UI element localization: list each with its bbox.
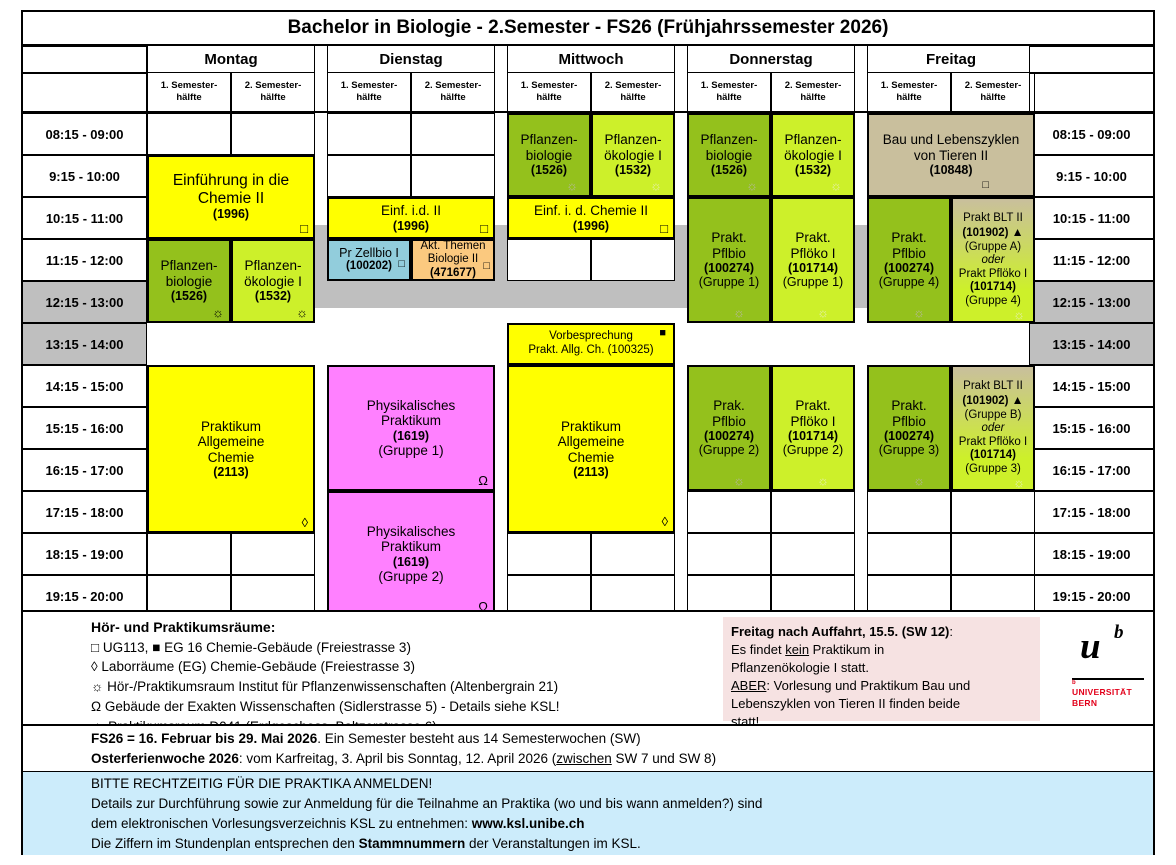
event-code: (1532) — [233, 289, 313, 303]
event-code: (100274) — [689, 261, 769, 275]
room-sun-icon: ☼ — [746, 179, 758, 192]
legend-heading: Hör- und Praktikumsräume: — [91, 617, 731, 638]
logo-letter-b: b — [1114, 622, 1124, 644]
event-line-3: Chemie — [149, 450, 313, 465]
event-code: (1996) — [149, 207, 313, 221]
event-line-1: Akt. Themen — [413, 240, 493, 254]
room-square-icon: □ — [982, 180, 989, 191]
logo-line2: BERN — [1072, 698, 1097, 708]
event-code: (1526) — [509, 163, 589, 177]
info-l4bold: Stammnummern — [359, 836, 466, 851]
slot-montag-1-0 — [147, 113, 231, 155]
room-sun-icon: ☼ — [913, 306, 925, 319]
event-oder: oder — [953, 254, 1033, 268]
event-line-1: Einf. i. d. Chemie II — [509, 203, 673, 218]
semester-info-box: FS26 = 16. Februar bis 29. Mai 2026. Ein… — [23, 724, 1153, 771]
event-alt-name: Prakt Pflöko I — [953, 436, 1033, 450]
time-label-left-9: 17:15 - 18:00 — [23, 491, 147, 533]
room-square-icon: □ — [300, 222, 308, 235]
header-spacer-1 — [315, 46, 327, 73]
slot-donnerstag-1-10 — [687, 533, 771, 575]
slot-dienstag-2-1 — [411, 155, 495, 197]
event-line-2: von Tieren II — [869, 148, 1033, 163]
event-einf-id-2-dienstag[interactable]: Einf. i.d. II (1996) □ — [327, 197, 495, 239]
info-line-1: BITTE RECHTZEITIG FÜR DIE PRAKTIKA ANMEL… — [91, 776, 432, 791]
semester-dates-bold: FS26 = 16. Februar bis 29. Mai 2026 — [91, 731, 317, 746]
legend-item-ug113: □ UG113, ■ EG 16 Chemie-Gebäude (Freiest… — [91, 638, 731, 658]
room-sun-icon: ☼ — [733, 306, 745, 319]
easter-b: SW 7 und SW 8) — [612, 751, 716, 766]
subheader-corner-left — [23, 73, 147, 113]
time-label-right-3: 11:15 - 12:00 — [1029, 239, 1153, 281]
logo-tiny-b: b — [1072, 680, 1076, 686]
room-sun-icon: ☼ — [1013, 476, 1025, 489]
half-header-donnerstag-2: 2. Semester- hälfte — [771, 73, 855, 113]
time-label-right-10: 18:15 - 19:00 — [1029, 533, 1153, 575]
event-pflanzenoekologie-mittwoch[interactable]: Pflanzen- ökologie I (1532) ☼ — [591, 113, 675, 197]
half-label-line2: hälfte — [980, 92, 1005, 104]
event-line-1: Praktikum — [509, 419, 673, 434]
timetable-page: Bachelor in Biologie - 2.Semester - FS26… — [0, 0, 1176, 865]
event-line-1: Pflanzen- — [593, 132, 673, 147]
event-line-1: Einf. i.d. II — [329, 203, 493, 218]
event-code: (1619) — [329, 429, 493, 443]
event-line-2: Pflöko I — [773, 246, 853, 261]
note-line-2: Es findet kein Praktikum in — [731, 641, 1032, 659]
half-label-line2: hälfte — [536, 92, 561, 104]
event-alt-code: (101714) — [953, 281, 1033, 295]
note-l1b: Praktikum in — [809, 642, 884, 657]
half-label-line1: 2. Semester- — [605, 80, 662, 92]
subheader-spacer-4 — [855, 73, 867, 113]
event-prakt-pfloeko-gruppe-2[interactable]: Prakt. Pflöko I (101714) (Gruppe 2) ☼ — [771, 365, 855, 491]
slot-dienstag-1-1 — [327, 155, 411, 197]
note-line-5: Lebenszyklen von Tieren II finden beide — [731, 695, 1032, 713]
event-code: (101714) — [773, 429, 853, 443]
event-pflanzenbiologie-montag[interactable]: Pflanzen- biologie (1526) ☼ — [147, 239, 231, 323]
room-sun-icon: ☼ — [566, 179, 578, 192]
event-aktuelle-themen-biologie-2[interactable]: Akt. Themen Biologie II (471677) □ — [411, 239, 495, 281]
event-group: (Gruppe 4) — [869, 275, 949, 289]
event-line-1: Prakt BLT II — [953, 212, 1033, 226]
half-label-line2: hälfte — [620, 92, 645, 104]
subheader-spacer-3 — [675, 73, 687, 113]
note-line-4: ABER: Vorlesung und Praktikum Bau und — [731, 677, 1032, 695]
event-code: (1526) — [149, 289, 229, 303]
half-header-freitag-2: 2. Semester- hälfte — [951, 73, 1035, 113]
slot-montag-2-0 — [231, 113, 315, 155]
event-line-2: Allgemeine — [149, 434, 313, 449]
easter-a: : vom Karfreitag, 3. April bis Sonntag, … — [239, 751, 556, 766]
note-line-1: Freitag nach Auffahrt, 15.5. (SW 12): — [731, 623, 1032, 641]
half-header-donnerstag-1: 1. Semester- hälfte — [687, 73, 771, 113]
event-code: (471677) — [413, 267, 493, 281]
event-line-1: Pflanzen- — [233, 258, 313, 273]
event-line-1: Prak. — [689, 398, 769, 413]
note-line-3: Pflanzenökologie I statt. — [731, 659, 1032, 677]
header-spacer-3 — [675, 46, 687, 73]
header-spacer-2 — [495, 46, 507, 73]
event-code: (100202) — [329, 260, 409, 274]
time-label-left-2: 10:15 - 11:00 — [23, 197, 147, 239]
event-pflanzenbiologie-mittwoch[interactable]: Pflanzen- biologie (1526) ☼ — [507, 113, 591, 197]
event-line-2: Biologie II — [413, 253, 493, 267]
event-line-1: Bau und Lebenszyklen — [869, 132, 1033, 147]
event-code: (2113) — [509, 465, 673, 479]
event-line-3: Chemie — [509, 450, 673, 465]
room-square-icon: □ — [483, 261, 490, 272]
half-header-montag-1: 1. Semester- hälfte — [147, 73, 231, 113]
subheader-corner-right — [1029, 73, 1153, 113]
event-code: (10848) — [869, 163, 1033, 177]
info-l4b: der Veranstaltungen im KSL. — [465, 836, 641, 851]
legend-item-pflanzenwissenschaften: ☼ Hör-/Praktikumsraum Institut für Pflan… — [91, 677, 731, 697]
event-line-2: Pflöko I — [773, 414, 853, 429]
event-line-1: Physikalisches — [329, 524, 493, 539]
event-prakt-pflbio-gruppe-4[interactable]: Prakt. Pflbio (100274) (Gruppe 4) ☼ — [867, 197, 951, 323]
event-line-2: ökologie I — [593, 148, 673, 163]
event-group: (Gruppe 2) — [329, 569, 493, 584]
event-pr-zellbio-1[interactable]: Pr Zellbio I (100202) □ — [327, 239, 411, 281]
logo-wordmark: UNIVERSITÄTBERN — [1072, 687, 1132, 710]
day-header-montag: Montag — [147, 46, 315, 73]
event-line-2: biologie — [509, 148, 589, 163]
event-code: (1526) — [689, 163, 769, 177]
event-line-1: Prakt. — [869, 230, 949, 245]
event-group: (Gruppe 2) — [689, 443, 769, 457]
half-label-line2: hälfte — [176, 92, 201, 104]
time-label-right-8: 16:15 - 17:00 — [1029, 449, 1153, 491]
time-label-left-0: 08:15 - 09:00 — [23, 113, 147, 155]
room-sun-icon: ☼ — [733, 474, 745, 487]
event-line-2: Praktikum — [329, 413, 493, 428]
page-title: Bachelor in Biologie - 2.Semester - FS26… — [23, 12, 1153, 46]
half-label-line1: 2. Semester- — [785, 80, 842, 92]
event-line-1: Pflanzen- — [149, 258, 229, 273]
room-sun-icon: ☼ — [817, 306, 829, 319]
event-line-1: Prakt. — [869, 398, 949, 413]
event-line-1: Prakt. — [689, 230, 769, 245]
room-sun-icon: ☼ — [650, 179, 662, 192]
time-label-left-6: 14:15 - 15:00 — [23, 365, 147, 407]
event-group: (Gruppe A) — [953, 241, 1033, 255]
room-sun-icon: ☼ — [1013, 308, 1025, 321]
event-pflanzenoekologie-montag[interactable]: Pflanzen- ökologie I (1532) ☼ — [231, 239, 315, 323]
event-prakt-pflbio-gruppe-3[interactable]: Prakt. Pflbio (100274) (Gruppe 3) ☼ — [867, 365, 951, 491]
event-prakt-pflbio-gruppe-1[interactable]: Prakt. Pflbio (100274) (Gruppe 1) ☼ — [687, 197, 771, 323]
slot-freitag-1-10 — [867, 533, 951, 575]
semester-dates-rest: . Ein Semester besteht aus 14 Semesterwo… — [317, 731, 640, 746]
event-line-1: Pr Zellbio I — [329, 246, 409, 260]
slot-dienstag-2-0 — [411, 113, 495, 155]
room-sun-icon: ☼ — [913, 474, 925, 487]
half-header-mittwoch-2: 2. Semester- hälfte — [591, 73, 675, 113]
event-alt-name: Prakt Pflöko I — [953, 268, 1033, 282]
subheader-spacer-2 — [495, 73, 507, 113]
room-sun-icon: ☼ — [830, 179, 842, 192]
event-physikalisches-praktikum-gruppe-1[interactable]: Physikalisches Praktikum (1619) (Gruppe … — [327, 365, 495, 491]
event-group: (Gruppe B) — [953, 409, 1033, 423]
event-pflanzenoekologie-donnerstag[interactable]: Pflanzen- ökologie I (1532) ☼ — [771, 113, 855, 197]
half-label-line2: hälfte — [716, 92, 741, 104]
half-label-line2: hälfte — [356, 92, 381, 104]
time-label-left-3: 11:15 - 12:00 — [23, 239, 147, 281]
room-sun-icon: ☼ — [817, 474, 829, 487]
half-label-line2: hälfte — [800, 92, 825, 104]
event-group: (Gruppe 1) — [773, 275, 853, 289]
logo-letter-u: u — [1080, 628, 1101, 665]
event-einf-id-chemie-2-mittwoch[interactable]: Einf. i. d. Chemie II (1996) □ — [507, 197, 675, 239]
event-praktikum-allgemeine-chemie-mittwoch[interactable]: Praktikum Allgemeine Chemie (2113) ◊ — [507, 365, 675, 533]
auffahrt-note: Freitag nach Auffahrt, 15.5. (SW 12): Es… — [723, 617, 1040, 721]
half-label-line1: 2. Semester- — [245, 80, 302, 92]
time-label-right-0: 08:15 - 09:00 — [1029, 113, 1153, 155]
note-l1u: kein — [785, 642, 809, 657]
time-label-right-1: 9:15 - 10:00 — [1029, 155, 1153, 197]
event-praktikum-allgemeine-chemie-montag[interactable]: Praktikum Allgemeine Chemie (2113) ◊ — [147, 365, 315, 533]
slot-mittwoch-1-3 — [507, 239, 591, 281]
time-label-left-4: 12:15 - 13:00 — [23, 281, 147, 323]
registration-info-box: BITTE RECHTZEITIG FÜR DIE PRAKTIKA ANMEL… — [23, 771, 1153, 855]
half-label-line2: hälfte — [896, 92, 921, 104]
room-diamond-icon: ◊ — [302, 516, 308, 529]
slot-montag-1-10 — [147, 533, 231, 575]
time-label-left-7: 15:15 - 16:00 — [23, 407, 147, 449]
note-l1a: Es findet — [731, 642, 785, 657]
event-line-2: Pflbio — [869, 414, 949, 429]
event-code: (100274) — [869, 429, 949, 443]
day-header-dienstag: Dienstag — [327, 46, 495, 73]
slot-mittwoch-2-3 — [591, 239, 675, 281]
easter-bold: Osterferienwoche 2026 — [91, 751, 239, 766]
subheader-spacer-1 — [315, 73, 327, 113]
event-line-1: Prakt. — [773, 230, 853, 245]
info-l3a: dem elektronischen Vorlesungsverzeichnis… — [91, 816, 472, 831]
event-line-2: Pflbio — [689, 414, 769, 429]
day-header-donnerstag: Donnerstag — [687, 46, 855, 73]
header-corner-left — [23, 46, 147, 73]
timetable-frame: Bachelor in Biologie - 2.Semester - FS26… — [21, 10, 1155, 855]
half-header-freitag-1: 1. Semester- hälfte — [867, 73, 951, 113]
event-prakt-blt-2-gruppe-b[interactable]: Prakt BLT II (101902) ▲ (Gruppe B) oder … — [951, 365, 1035, 491]
info-line-3: dem elektronischen Vorlesungsverzeichnis… — [91, 816, 585, 831]
room-square-icon: □ — [660, 222, 668, 235]
slot-donnerstag-2-10 — [771, 533, 855, 575]
note-title-suffix: : — [949, 624, 953, 639]
easter-week-line: Osterferienwoche 2026: vom Karfreitag, 3… — [91, 751, 716, 766]
event-line-1: Prakt. — [773, 398, 853, 413]
time-label-left-5: 13:15 - 14:00 — [23, 323, 147, 365]
event-line-1: Praktikum — [149, 419, 313, 434]
note-l3b: : Vorlesung und Praktikum Bau und — [766, 678, 970, 693]
room-diamond-icon: ◊ — [662, 515, 668, 528]
logo-line1: UNIVERSITÄT — [1072, 687, 1132, 697]
header-corner-right — [1029, 46, 1153, 73]
event-code: (101902) ▲ — [953, 225, 1033, 241]
event-line-2: Chemie II — [149, 190, 313, 208]
event-prak-pflbio-gruppe-2[interactable]: Prak. Pflbio (100274) (Gruppe 2) ☼ — [687, 365, 771, 491]
legend-item-exakte-wissenschaften: Ω Gebäude der Exakten Wissenschaften (Si… — [91, 697, 731, 717]
half-label-line1: 1. Semester- — [701, 80, 758, 92]
ksl-url[interactable]: www.ksl.unibe.ch — [472, 816, 585, 831]
semester-dates-line: FS26 = 16. Februar bis 29. Mai 2026. Ein… — [91, 731, 641, 746]
room-square-icon: □ — [480, 222, 488, 235]
room-sun-icon: ☼ — [212, 306, 224, 319]
info-line-4: Die Ziffern im Stundenplan entsprechen d… — [91, 836, 641, 851]
slot-donnerstag-1-9 — [687, 491, 771, 533]
event-group: (Gruppe 1) — [689, 275, 769, 289]
event-code: (1996) — [509, 219, 673, 233]
half-header-dienstag-1: 1. Semester- hälfte — [327, 73, 411, 113]
event-line-1: Vorbesprechung — [509, 330, 673, 344]
event-line-1: Pflanzen- — [773, 132, 853, 147]
event-oder: oder — [953, 422, 1033, 436]
half-header-dienstag-2: 2. Semester- hälfte — [411, 73, 495, 113]
info-l4a: Die Ziffern im Stundenplan entsprechen d… — [91, 836, 359, 851]
event-line-1: Physikalisches — [329, 398, 493, 413]
room-legend: Hör- und Praktikumsräume: □ UG113, ■ EG … — [91, 617, 731, 737]
half-label-line1: 1. Semester- — [881, 80, 938, 92]
event-line-2: Praktikum — [329, 539, 493, 554]
event-group: (Gruppe 1) — [329, 443, 493, 458]
legend-box: Hör- und Praktikumsräume: □ UG113, ■ EG … — [23, 610, 1153, 724]
half-label-line2: hälfte — [260, 92, 285, 104]
event-line-2: ökologie I — [233, 274, 313, 289]
unibern-logo: u b b UNIVERSITÄTBERN — [1070, 622, 1144, 718]
event-bau-lebenszyklen-tiere-2[interactable]: Bau und Lebenszyklen von Tieren II (1084… — [867, 113, 1035, 197]
half-label-line1: 1. Semester- — [521, 80, 578, 92]
event-line-2: Pflbio — [869, 246, 949, 261]
event-code: (101714) — [773, 261, 853, 275]
header-spacer-4 — [855, 46, 867, 73]
event-line-2: Pflbio — [689, 246, 769, 261]
slot-mittwoch-2-10 — [591, 533, 675, 575]
event-code: (100274) — [689, 429, 769, 443]
time-label-left-8: 16:15 - 17:00 — [23, 449, 147, 491]
half-header-mittwoch-1: 1. Semester- hälfte — [507, 73, 591, 113]
time-label-right-2: 10:15 - 11:00 — [1029, 197, 1153, 239]
event-line-2: ökologie I — [773, 148, 853, 163]
half-label-line2: hälfte — [440, 92, 465, 104]
day-header-mittwoch: Mittwoch — [507, 46, 675, 73]
event-line-2: biologie — [149, 274, 229, 289]
event-einfuehrung-chemie-2[interactable]: Einführung in die Chemie II (1996) □ — [147, 155, 315, 239]
event-prakt-blt-2-gruppe-a[interactable]: Prakt BLT II (101902) ▲ (Gruppe A) oder … — [951, 197, 1035, 323]
event-code: (1996) — [329, 219, 493, 233]
room-triangle-icon: ▲ — [1012, 225, 1024, 239]
event-group: (Gruppe 2) — [773, 443, 853, 457]
time-label-right-7: 15:15 - 16:00 — [1029, 407, 1153, 449]
time-label-right-6: 14:15 - 15:00 — [1029, 365, 1153, 407]
room-sun-icon: ☼ — [296, 306, 308, 319]
time-label-left-10: 18:15 - 19:00 — [23, 533, 147, 575]
half-header-montag-2: 2. Semester- hälfte — [231, 73, 315, 113]
slot-freitag-2-10 — [951, 533, 1035, 575]
slot-mittwoch-1-10 — [507, 533, 591, 575]
event-line-1: Prakt BLT II — [953, 380, 1033, 394]
event-prakt-pfloeko-gruppe-1[interactable]: Prakt. Pflöko I (101714) (Gruppe 1) ☼ — [771, 197, 855, 323]
half-label-line1: 2. Semester- — [425, 80, 482, 92]
event-line-2: Prakt. Allg. Ch. (100325) — [509, 344, 673, 358]
easter-u: zwischen — [556, 751, 612, 766]
event-code: (100274) — [869, 261, 949, 275]
event-line-2: Allgemeine — [509, 434, 673, 449]
slot-freitag-1-9 — [867, 491, 951, 533]
event-code: (1532) — [593, 163, 673, 177]
half-label-line1: 1. Semester- — [341, 80, 398, 92]
event-alt-code: (101714) — [953, 449, 1033, 463]
slot-donnerstag-2-9 — [771, 491, 855, 533]
event-code: (2113) — [149, 465, 313, 479]
slot-montag-2-10 — [231, 533, 315, 575]
day-header-freitag: Freitag — [867, 46, 1035, 73]
event-code: (1532) — [773, 163, 853, 177]
note-title: Freitag nach Auffahrt, 15.5. (SW 12) — [731, 624, 949, 639]
room-square-icon: □ — [398, 259, 405, 270]
room-omega-icon: Ω — [478, 474, 488, 487]
event-code: (1619) — [329, 555, 493, 569]
time-label-right-9: 17:15 - 18:00 — [1029, 491, 1153, 533]
timetable-grid: Montag Dienstag Mittwoch Donnerstag Frei… — [23, 46, 1153, 610]
logo-rule — [1072, 678, 1144, 680]
legend-item-laborraeume: ◊ Laborräume (EG) Chemie-Gebäude (Freies… — [91, 657, 731, 677]
slot-dienstag-1-0 — [327, 113, 411, 155]
event-group: (Gruppe 3) — [869, 443, 949, 457]
time-label-right-5: 13:15 - 14:00 — [1029, 323, 1153, 365]
event-line-1: Einführung in die — [149, 172, 313, 190]
note-l3u: ABER — [731, 678, 766, 693]
event-code: (101902) ▲ — [953, 393, 1033, 409]
event-physikalisches-praktikum-gruppe-2[interactable]: Physikalisches Praktikum (1619) (Gruppe … — [327, 491, 495, 617]
event-pflanzenbiologie-donnerstag[interactable]: Pflanzen- biologie (1526) ☼ — [687, 113, 771, 197]
event-vorbesprechung-prakt-allg-chemie[interactable]: Vorbesprechung Prakt. Allg. Ch. (100325)… — [507, 323, 675, 365]
room-triangle-icon: ▲ — [1012, 393, 1024, 407]
event-line-2: biologie — [689, 148, 769, 163]
info-line-2: Details zur Durchführung sowie zur Anmel… — [91, 796, 762, 811]
slot-freitag-2-9 — [951, 491, 1035, 533]
timetable-footer: Hör- und Praktikumsräume: □ UG113, ■ EG … — [23, 610, 1153, 855]
room-filled-square-icon: ■ — [659, 328, 666, 339]
time-label-right-4: 12:15 - 13:00 — [1029, 281, 1153, 323]
half-label-line1: 2. Semester- — [965, 80, 1022, 92]
time-label-left-1: 9:15 - 10:00 — [23, 155, 147, 197]
event-line-1: Pflanzen- — [509, 132, 589, 147]
event-line-1: Pflanzen- — [689, 132, 769, 147]
half-label-line1: 1. Semester- — [161, 80, 218, 92]
